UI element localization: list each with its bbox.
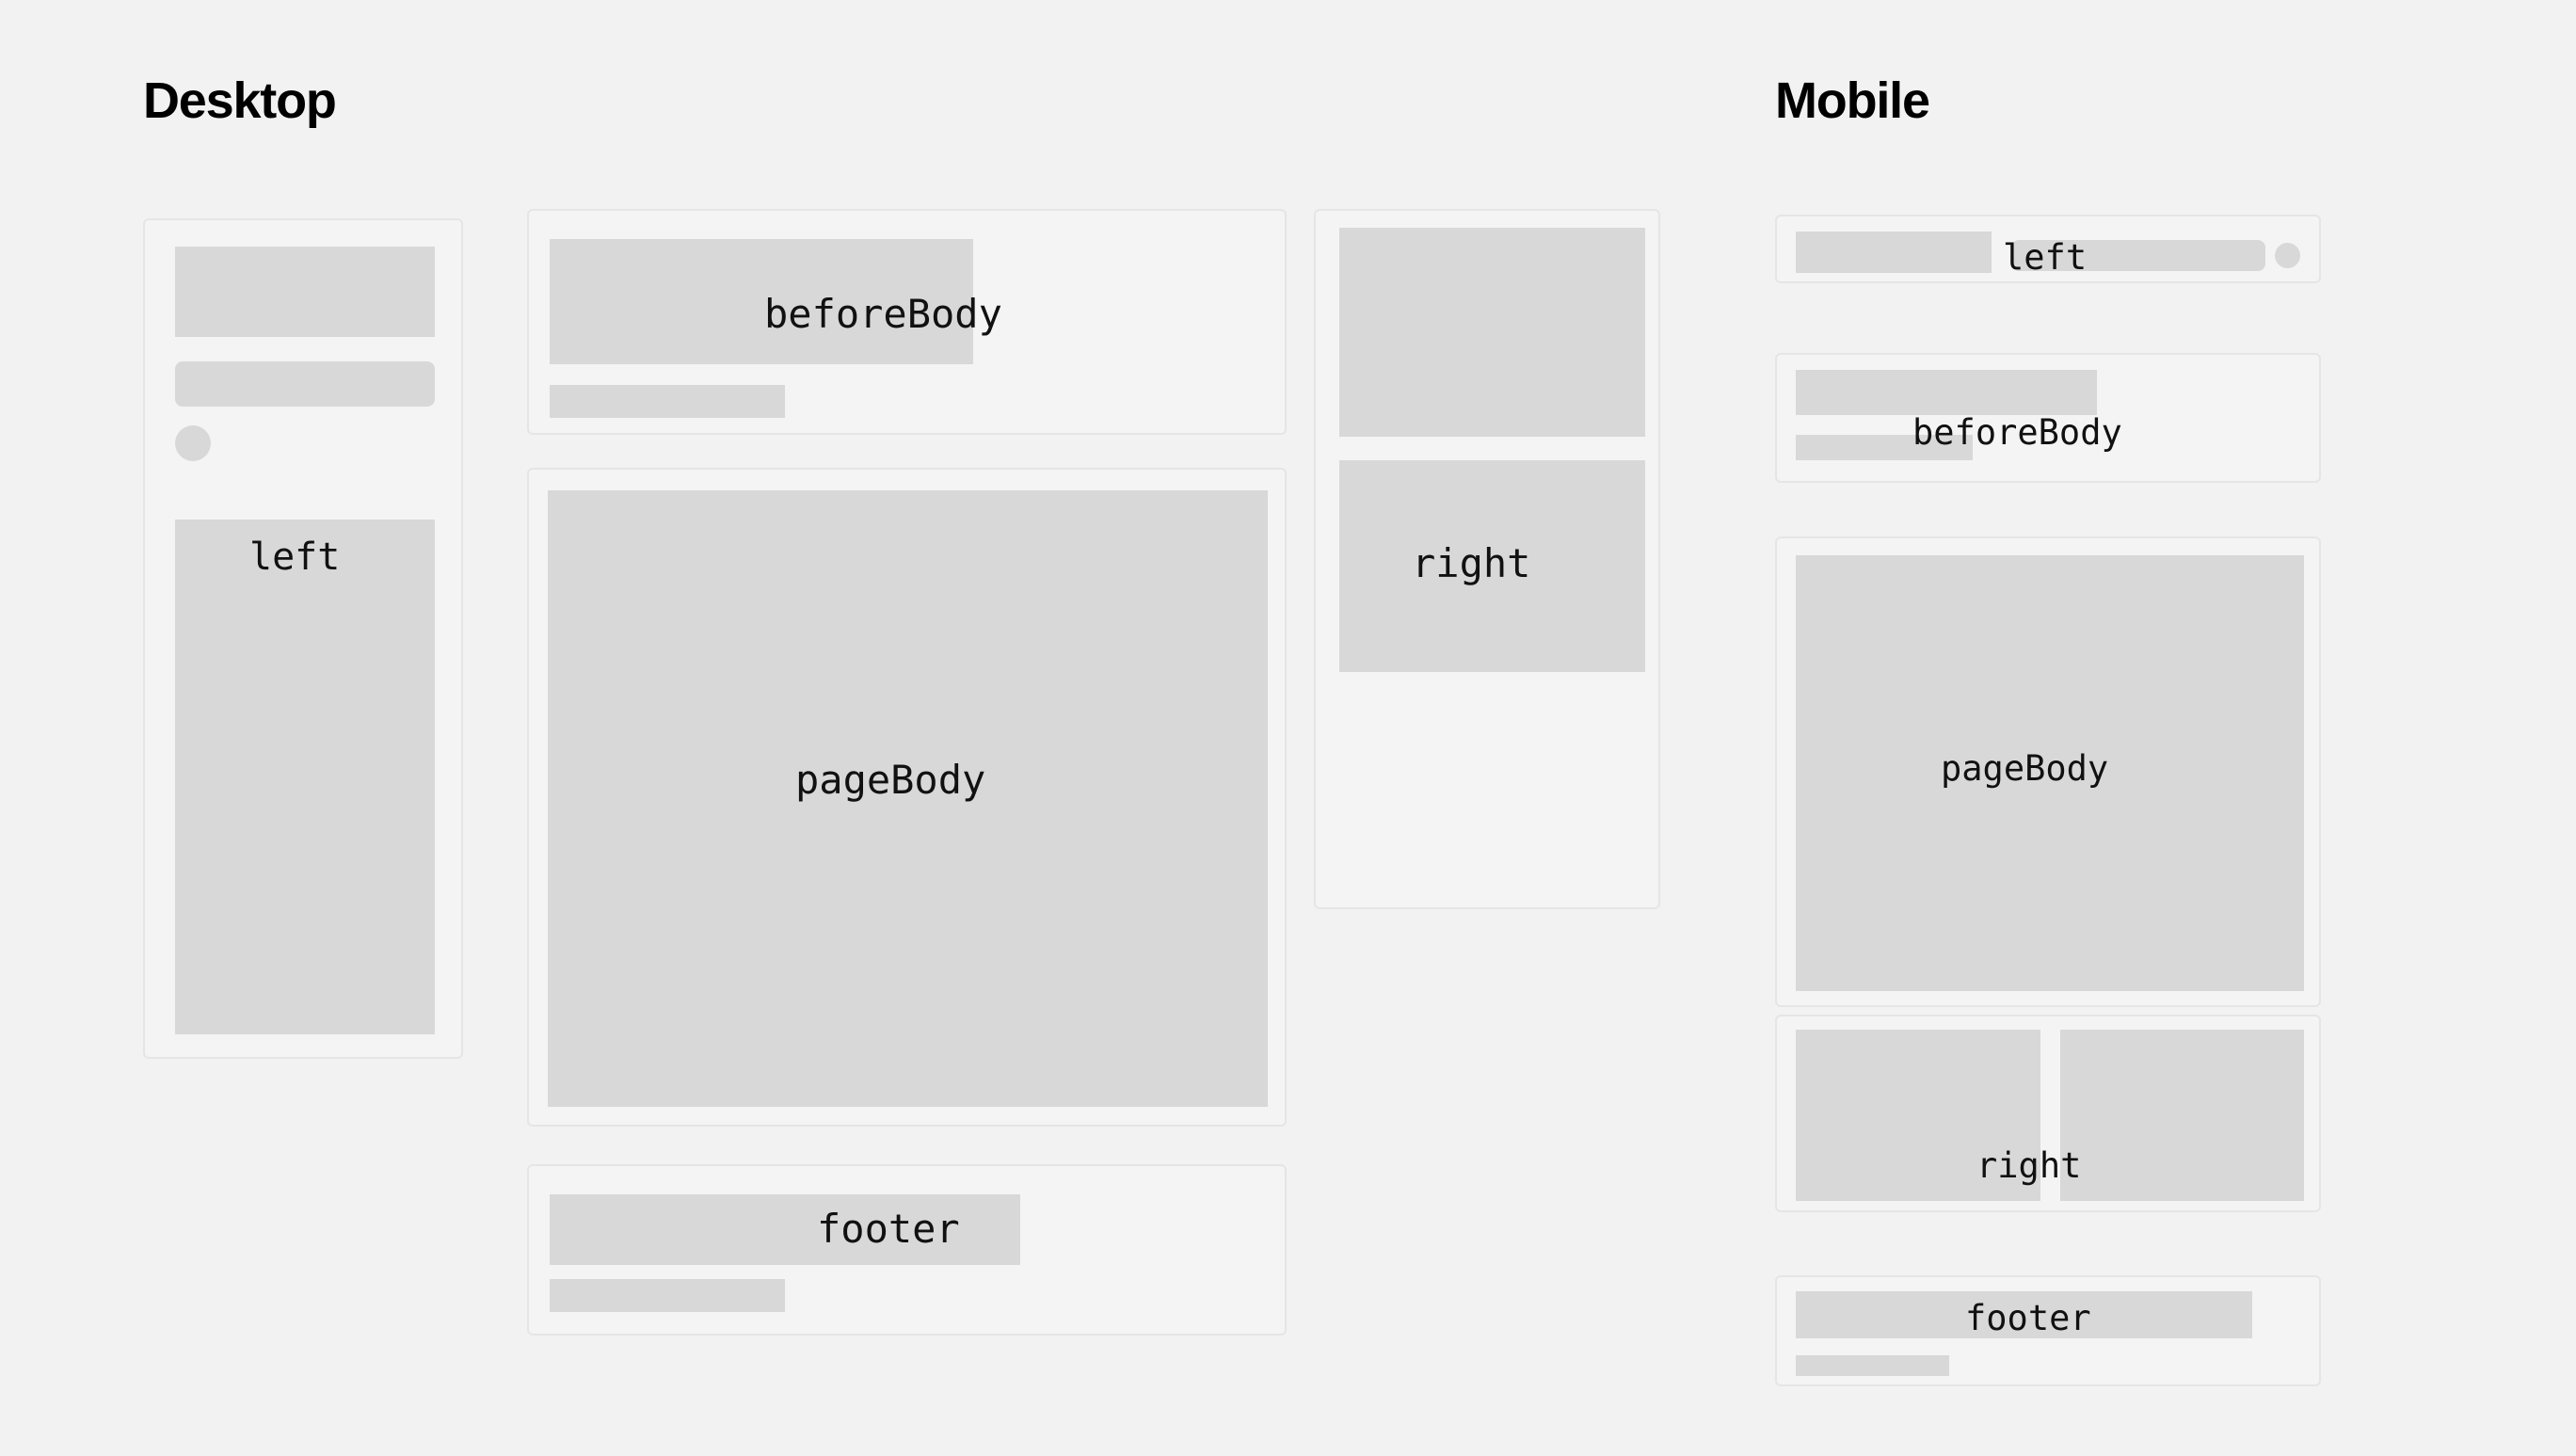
placeholder-block-small [1796, 1355, 1949, 1376]
desktop-panel-beforebody[interactable] [527, 209, 1287, 435]
placeholder-block [1796, 370, 2097, 415]
placeholder-block-small [550, 1279, 785, 1312]
placeholder-block-fill [548, 490, 1268, 1107]
mobile-panel-pagebody[interactable] [1775, 536, 2321, 1007]
wireframe-stage: Desktop Mobile left beforeBody pageBody … [0, 0, 2576, 1456]
placeholder-block-small [1796, 435, 1973, 460]
placeholder-circle [175, 425, 211, 461]
placeholder-block-bottom [1339, 460, 1645, 672]
mobile-panel-left[interactable] [1775, 215, 2321, 283]
placeholder-block-right [2060, 1030, 2304, 1201]
placeholder-block [1796, 232, 1992, 273]
placeholder-block [550, 239, 973, 364]
mobile-panel-beforebody[interactable] [1775, 353, 2321, 483]
desktop-panel-pagebody[interactable] [527, 468, 1287, 1127]
section-title-mobile: Mobile [1775, 75, 1929, 126]
desktop-panel-footer[interactable] [527, 1164, 1287, 1336]
placeholder-block-small [550, 385, 785, 418]
placeholder-block-left [1796, 1030, 2040, 1201]
placeholder-block-rounded [175, 361, 435, 407]
desktop-panel-left[interactable] [143, 218, 463, 1059]
placeholder-block-rounded [2011, 240, 2265, 271]
placeholder-block-fill [1796, 555, 2304, 991]
mobile-panel-footer[interactable] [1775, 1275, 2321, 1386]
placeholder-block [175, 247, 435, 337]
placeholder-block [550, 1194, 1020, 1265]
placeholder-block-top [1339, 228, 1645, 437]
section-title-desktop: Desktop [143, 75, 336, 126]
placeholder-circle [2275, 243, 2300, 268]
desktop-panel-right[interactable] [1314, 209, 1660, 909]
mobile-panel-right[interactable] [1775, 1015, 2321, 1212]
placeholder-block [1796, 1291, 2252, 1338]
placeholder-block-tall [175, 520, 435, 1034]
